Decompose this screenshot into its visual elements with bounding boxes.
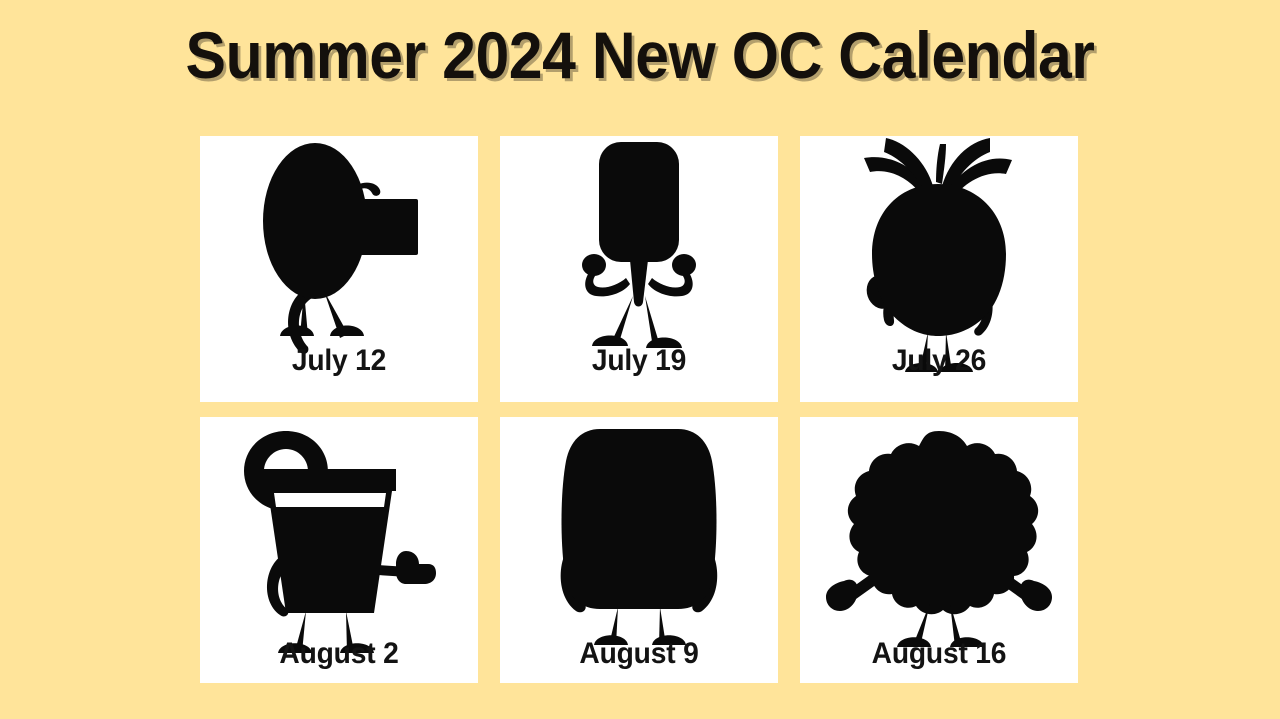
card-august-2[interactable]: August 2 xyxy=(200,417,478,683)
card-label: August 9 xyxy=(508,637,769,671)
calendar-poster: Summer 2024 New OC Calendar xyxy=(0,0,1280,719)
character-card-grid: July 12 xyxy=(200,136,1078,683)
card-july-19[interactable]: July 19 xyxy=(500,136,778,402)
card-label: July 12 xyxy=(208,344,469,378)
card-july-26[interactable]: July 26 xyxy=(800,136,1078,402)
card-august-16[interactable]: August 16 xyxy=(800,417,1078,683)
card-july-12[interactable]: July 12 xyxy=(200,136,478,402)
card-label: August 2 xyxy=(208,637,469,671)
card-label: August 16 xyxy=(808,637,1069,671)
card-label: July 26 xyxy=(808,344,1069,378)
card-august-9[interactable]: August 9 xyxy=(500,417,778,683)
page-title: Summer 2024 New OC Calendar xyxy=(51,22,1229,88)
card-label: July 19 xyxy=(508,344,769,378)
